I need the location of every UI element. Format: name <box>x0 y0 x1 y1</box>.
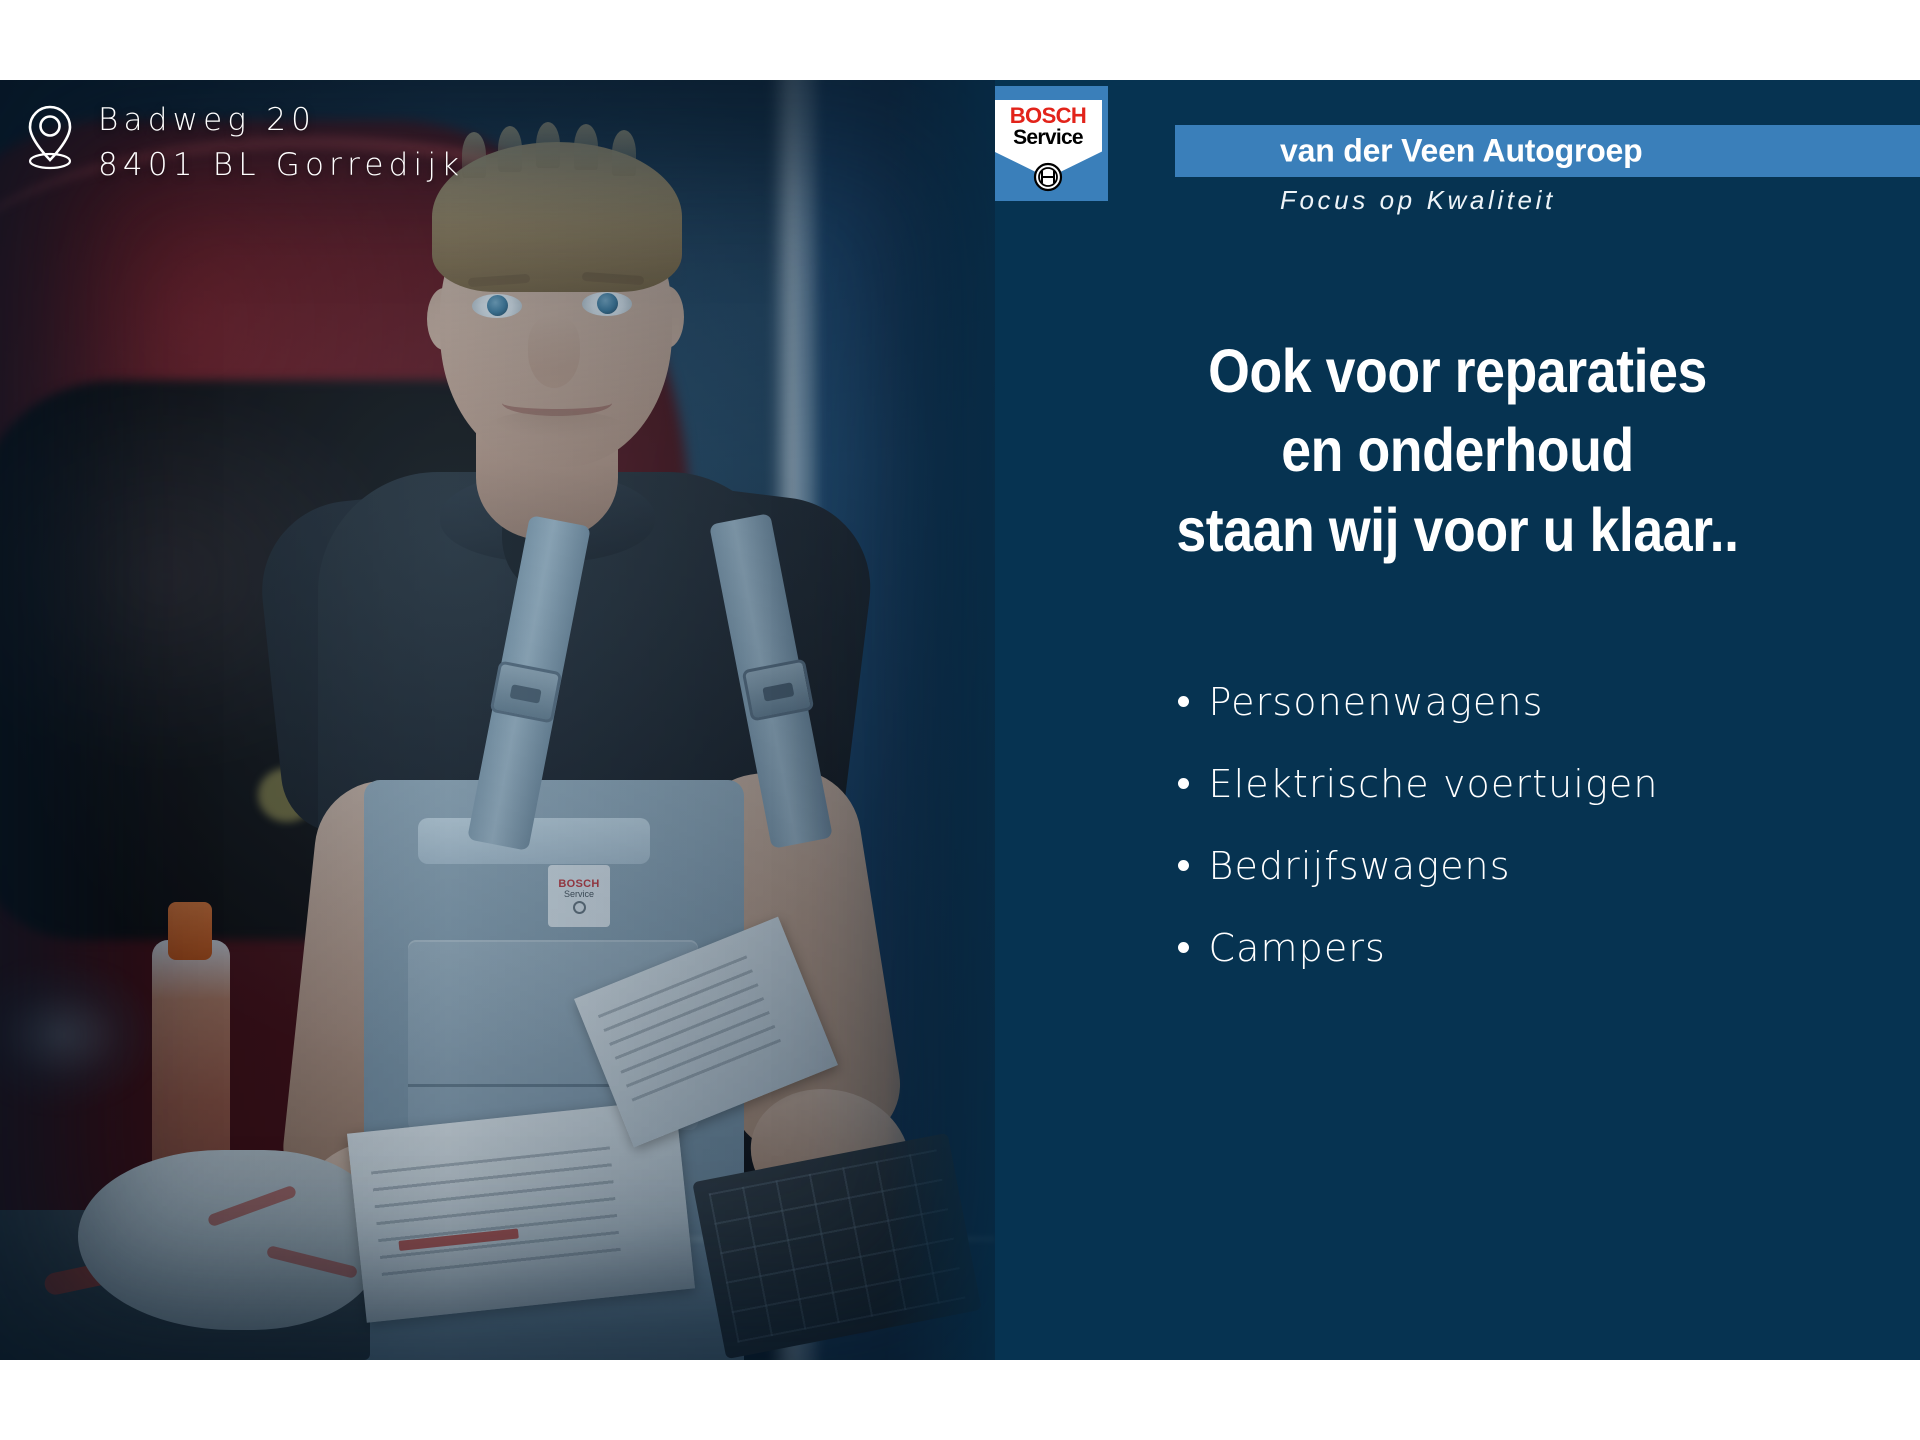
address-lines: Badweg 20 8401 BL Gorredijk <box>98 100 464 183</box>
rag-stripe <box>207 1185 298 1228</box>
address-line-1: Badweg 20 <box>98 102 464 139</box>
service-label: Personenwagens <box>1209 680 1544 724</box>
info-panel: van der Veen Autogroep BOSCH Service Foc… <box>995 80 1920 1360</box>
hair-spike <box>574 124 598 170</box>
company-name: van der Veen Autogroep <box>1280 133 1643 170</box>
photo-canvas: BOSCH Service <box>0 80 995 1360</box>
brand-tagline: Focus op Kwaliteit <box>1280 185 1556 216</box>
bottle-cap <box>168 902 212 960</box>
headline-line-1: Ook voor reparaties <box>1051 332 1865 411</box>
address-line-2: 8401 BL Gorredijk <box>98 147 464 184</box>
calculator-keypad <box>692 1133 982 1359</box>
address-block: Badweg 20 8401 BL Gorredijk <box>24 100 464 183</box>
document-text-lines <box>371 1146 621 1280</box>
receipt-text-lines <box>598 955 782 1104</box>
iris-right <box>597 293 618 314</box>
bullet-dot-icon <box>1178 860 1189 871</box>
service-label: Elektrische voertuigen <box>1209 762 1659 806</box>
patch-bosch-text: BOSCH <box>558 879 599 890</box>
service-wordmark: Service <box>1013 127 1083 149</box>
hair-spike <box>536 122 560 168</box>
list-item: Bedrijfswagens <box>1178 844 1738 888</box>
patch-service-text: Service <box>564 890 594 899</box>
headline-line-3: staan wij voor u klaar.. <box>1051 491 1865 570</box>
advertisement-banner: BOSCH Service <box>0 0 1920 1440</box>
buckle-slot <box>762 683 794 702</box>
nose <box>528 316 580 388</box>
list-item: Campers <box>1178 926 1738 970</box>
bullet-dot-icon <box>1178 778 1189 789</box>
keypad-keys <box>709 1149 966 1342</box>
headline-line-2: en onderhoud <box>1051 411 1865 490</box>
chin-shadow <box>480 410 632 456</box>
service-label: Bedrijfswagens <box>1209 844 1511 888</box>
overall-name-tag <box>418 818 650 864</box>
location-pin-icon <box>24 104 76 170</box>
iris-left <box>487 295 508 316</box>
bosch-service-patch: BOSCH Service <box>548 865 610 927</box>
content-stage: BOSCH Service <box>0 80 1920 1360</box>
buckle-slot <box>510 685 542 704</box>
bosch-armature-icon <box>1033 162 1063 192</box>
bosch-service-logo[interactable]: BOSCH Service <box>995 86 1108 201</box>
foreground-workbench <box>0 940 995 1360</box>
hair-spike <box>612 130 636 176</box>
bosch-wordmark: BOSCH <box>1010 105 1086 127</box>
bullet-dot-icon <box>1178 696 1189 707</box>
hair-spike <box>462 132 486 178</box>
list-item: Elektrische voertuigen <box>1178 762 1738 806</box>
services-list: Personenwagens Elektrische voertuigen Be… <box>995 680 1920 970</box>
hair-spike <box>498 126 522 172</box>
service-label: Campers <box>1209 926 1386 970</box>
brand-header: van der Veen Autogroep BOSCH Service Foc… <box>995 80 1920 220</box>
bullet-dot-icon <box>1178 942 1189 953</box>
mechanic-photo: BOSCH Service <box>0 80 995 1360</box>
headline-block: Ook voor reparaties en onderhoud staan w… <box>1051 332 1865 570</box>
company-name-banner: van der Veen Autogroep <box>1175 125 1920 177</box>
patch-mark-icon <box>573 901 586 914</box>
list-item: Personenwagens <box>1178 680 1738 724</box>
rag-stripe <box>266 1245 358 1279</box>
